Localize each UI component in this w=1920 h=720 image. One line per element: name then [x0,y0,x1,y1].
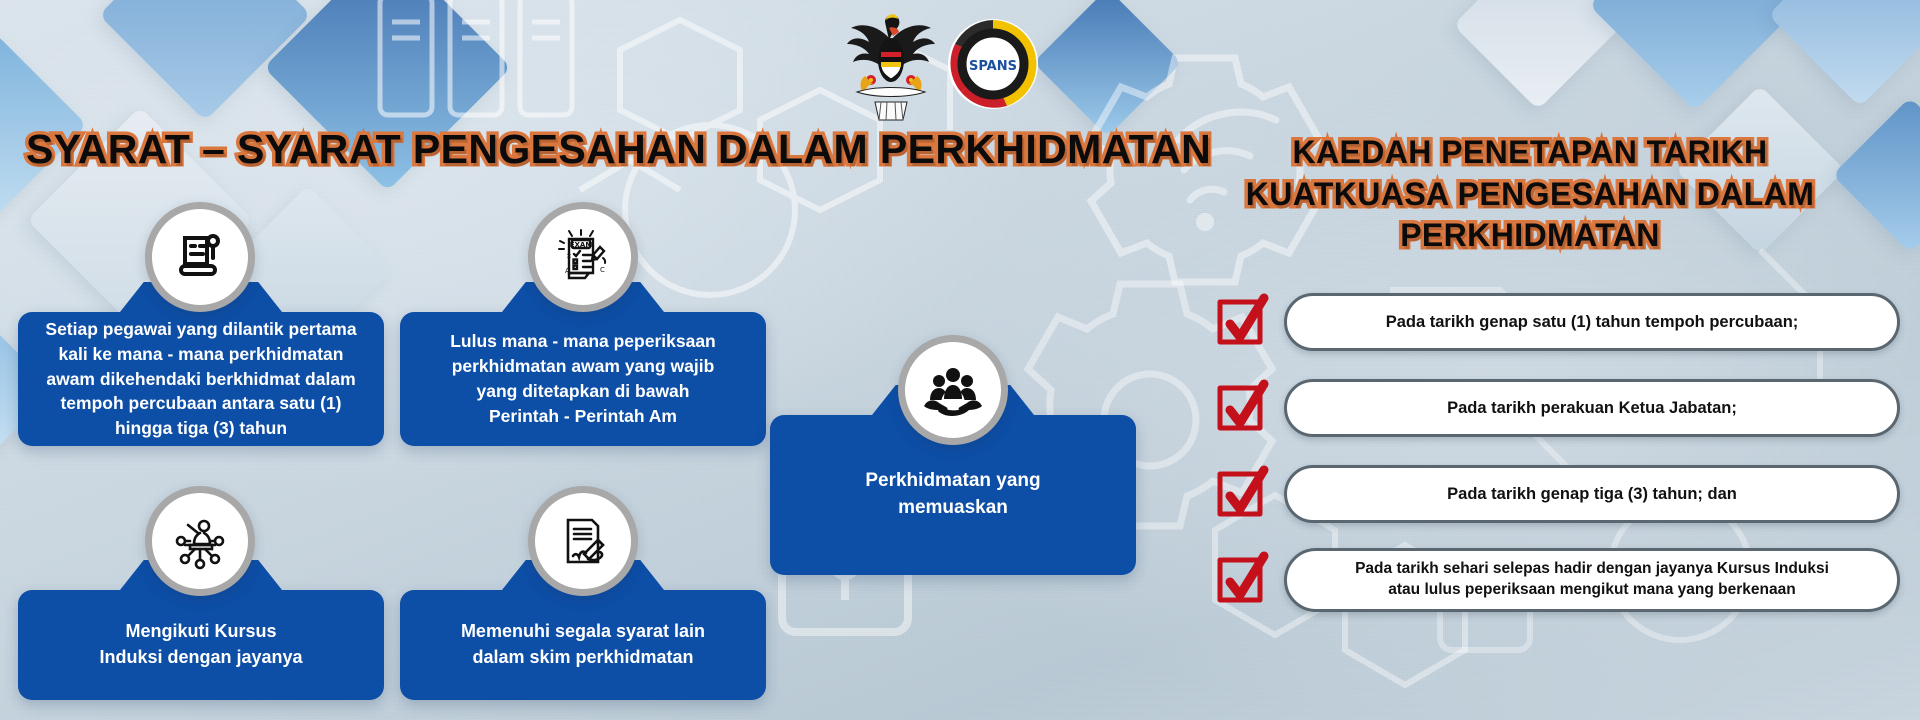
svg-text:×: × [566,252,572,260]
condition-card-5-line-1: Memenuhi segala syarat lain [416,619,750,645]
icon-bubble-training-network [145,486,255,596]
svg-text:A: A [565,267,570,275]
condition-card-4: Mengikuti Kursus Induksi dengan jayanya [18,590,384,700]
training-network-icon [170,511,230,571]
checklist-item: Pada tarikh perakuan Ketua Jabatan; [1210,376,1900,440]
condition-card-1-line-5: hingga tiga (3) tahun [34,416,368,441]
svg-text:C: C [600,266,605,274]
checklist-pill: Pada tarikh sehari selepas hadir dengan … [1284,548,1900,612]
red-checkmark-icon [1210,462,1274,526]
page-title-right: KAEDAH PENETAPAN TARIKH KUATKUASA PENGES… [1200,132,1860,257]
condition-card-2: Lulus mana - mana peperiksaan perkhidmat… [400,312,766,446]
icon-bubble-hands-holding-people [898,335,1008,445]
red-checkmark-icon [1210,290,1274,354]
checklist-text-4-line1: Pada tarikh sehari selepas hadir dengan … [1355,560,1829,577]
page-title-right-line3: PERKHIDMATAN [1200,215,1860,257]
condition-card-5: Memenuhi segala syarat lain dalam skim p… [400,590,766,700]
logo-group: SPANS [845,6,1039,122]
checklist-item: Pada tarikh genap tiga (3) tahun; dan [1210,462,1900,526]
checklist-item: Pada tarikh genap satu (1) tahun tempoh … [1210,290,1900,354]
condition-card-1-line-1: Setiap pegawai yang dilantik pertama [34,317,368,342]
red-checkmark-icon [1210,376,1274,440]
spans-logo-text: SPANS [969,59,1017,74]
condition-card-4-line-2: Induksi dengan jayanya [34,645,368,671]
checklist: Pada tarikh genap satu (1) tahun tempoh … [1210,290,1900,634]
condition-card-2-line-2: perkhidmatan awam yang wajib [416,354,750,379]
condition-card-1-line-4: tempoh percubaan antara satu (1) [34,391,368,416]
checklist-pill: Pada tarikh genap satu (1) tahun tempoh … [1284,293,1900,351]
icon-bubble-signing-document [528,486,638,596]
checklist-pill: Pada tarikh genap tiga (3) tahun; dan [1284,465,1900,523]
page-title-right-line2: KUATKUASA PENGESAHAN DALAM [1200,174,1860,216]
checklist-text-3: Pada tarikh genap tiga (3) tahun; dan [1447,483,1737,505]
exam-paper-icon: EXAM × A C [553,227,613,287]
condition-card-1-line-2: kali ke mana - mana perkhidmatan [34,342,368,367]
condition-card-2-line-3: yang ditetapkan di bawah [416,379,750,404]
checklist-text-2: Pada tarikh perakuan Ketua Jabatan; [1447,397,1737,419]
condition-card-3-line-2: memuaskan [786,495,1120,522]
sarawak-state-crest-icon [845,6,937,122]
checklist-text-4-line2: atau lulus peperiksaan mengikut mana yan… [1355,580,1829,601]
hands-holding-people-icon [922,359,984,421]
signing-document-icon [554,512,612,570]
svg-text:EXAM: EXAM [570,241,593,249]
red-checkmark-icon [1210,548,1274,612]
icon-bubble-id-card [145,202,255,312]
condition-card-4-line-1: Mengikuti Kursus [34,619,368,645]
spans-logo-icon: SPANS [947,18,1039,110]
condition-card-5-line-2: dalam skim perkhidmatan [416,645,750,671]
checklist-text-1: Pada tarikh genap satu (1) tahun tempoh … [1386,311,1799,333]
condition-card-2-line-4: Perintah - Perintah Am [416,404,750,429]
icon-bubble-exam-paper: EXAM × A C [528,202,638,312]
page-title-right-line1: KAEDAH PENETAPAN TARIKH [1200,132,1860,174]
condition-card-1: Setiap pegawai yang dilantik pertama kal… [18,312,384,446]
condition-card-2-line-1: Lulus mana - mana peperiksaan [416,329,750,354]
page-title-left: SYARAT – SYARAT PENGESAHAN DALAM PERKHID… [26,128,1211,171]
condition-card-3-line-1: Perkhidmatan yang [786,468,1120,495]
checklist-pill: Pada tarikh perakuan Ketua Jabatan; [1284,379,1900,437]
checklist-item: Pada tarikh sehari selepas hadir dengan … [1210,548,1900,612]
id-card-icon [171,228,229,286]
condition-card-1-line-3: awam dikehendaki berkhidmat dalam [34,367,368,392]
